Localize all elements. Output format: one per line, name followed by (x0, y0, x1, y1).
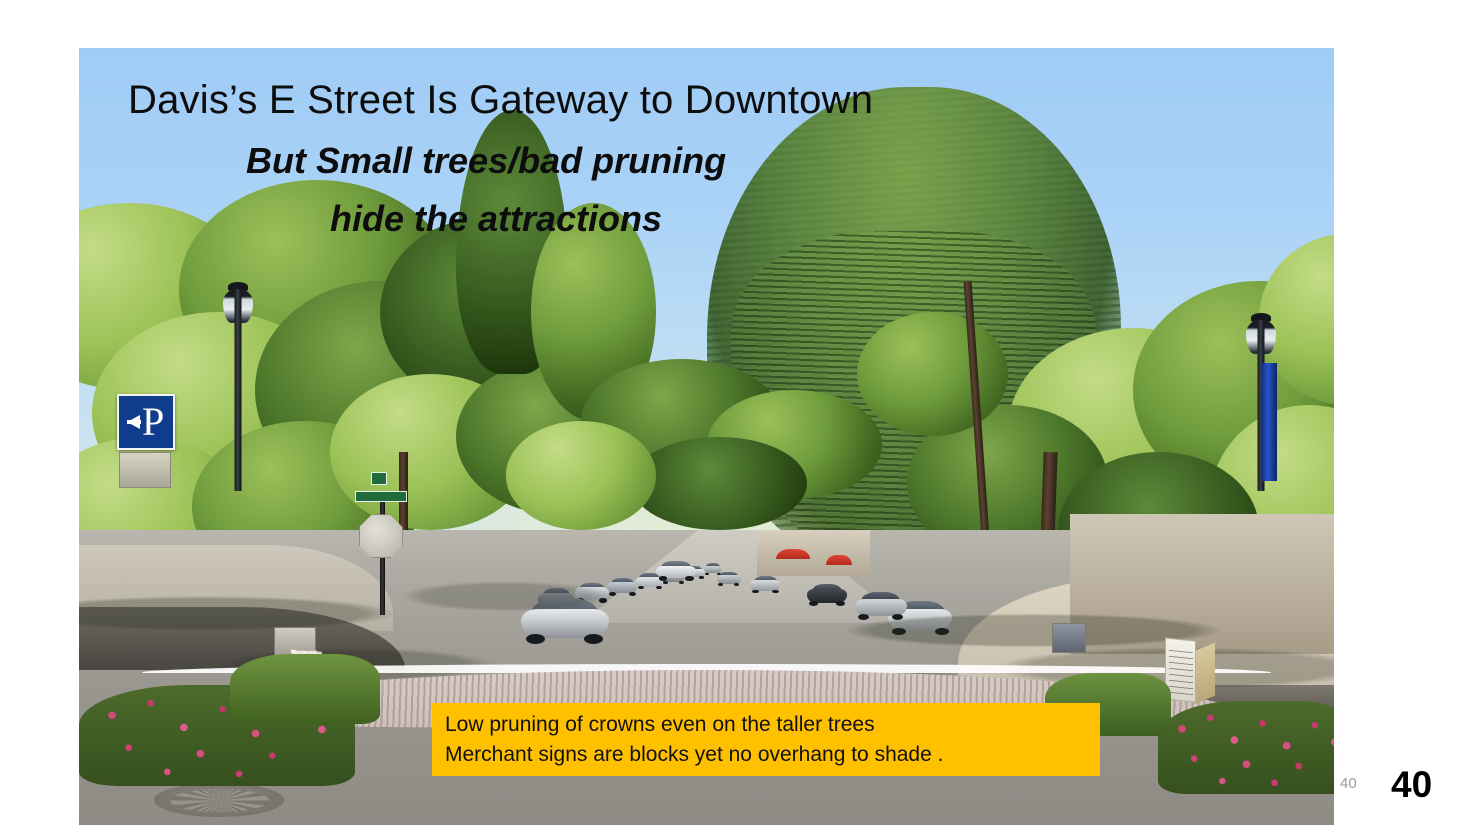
foreground-car (521, 598, 609, 644)
car-wheel (679, 581, 684, 584)
tree-canopy (857, 312, 1008, 436)
car-wheel (609, 592, 616, 596)
street-lamp-left (223, 289, 253, 491)
car-wheel (629, 592, 636, 596)
car-wheel (685, 576, 694, 580)
car-wheel (935, 628, 949, 635)
page-number-small: 40 (1340, 775, 1357, 792)
parking-sign: P (117, 394, 175, 450)
slide-title-line-2: But Small trees/bad pruning (246, 140, 726, 182)
parking-sign-letter: P (142, 405, 164, 439)
car-wheel (663, 581, 668, 584)
car-wheel (892, 628, 906, 635)
tree-canopy (631, 437, 807, 530)
car-wheel (892, 614, 903, 620)
slide-title-line-3: hide the attractions (330, 198, 662, 240)
slide-title-line-1: Davis’s E Street Is Gateway to Downtown (128, 78, 873, 123)
car-wheel (734, 583, 739, 586)
tree-canopy (506, 421, 657, 530)
flowers (1158, 701, 1334, 794)
sign-text-lines (1169, 650, 1193, 696)
car-wheel (656, 586, 662, 590)
lamp-post (235, 289, 242, 491)
car-wheel (809, 601, 818, 606)
slide-canvas: P (0, 0, 1467, 825)
light-pole-banner (1261, 363, 1277, 481)
parked-car (855, 592, 907, 620)
storefront-building (1070, 514, 1334, 654)
merchant-sandwich-board-right (1165, 639, 1215, 701)
caption-line-2: Merchant signs are blocks yet no overhan… (445, 740, 1100, 770)
left-arrow-icon (127, 415, 140, 429)
car-wheel (772, 590, 779, 594)
flower-planter-right (1158, 701, 1334, 794)
parking-info-panel (119, 452, 171, 488)
parked-car (807, 584, 847, 606)
street-name-sign (355, 491, 407, 502)
car-wheel (858, 614, 869, 620)
sign-leg (1194, 643, 1215, 705)
shrub-bed-left (230, 654, 381, 724)
car-wheel (638, 586, 644, 590)
awning (826, 555, 852, 565)
moving-car (656, 561, 696, 581)
caption-callout-box: Low pruning of crowns even on the taller… (432, 703, 1100, 776)
caption-line-1: Low pruning of crowns even on the taller… (445, 710, 1100, 740)
street-name-sign (371, 472, 387, 485)
trash-receptacle (1052, 623, 1086, 653)
planter-soil (230, 654, 381, 724)
car-wheel (699, 576, 704, 579)
car-wheel (526, 634, 545, 644)
parked-car (717, 572, 741, 586)
parked-car (750, 576, 780, 593)
storefront-building (757, 530, 870, 577)
car-wheel (836, 601, 845, 606)
car-wheel (718, 583, 723, 586)
parked-car (607, 578, 637, 596)
car-wheel (705, 573, 709, 576)
car-wheel (752, 590, 759, 594)
car-wheel (584, 634, 603, 644)
awning (776, 549, 810, 559)
car-wheel (659, 576, 668, 580)
page-number-large: 40 (1391, 764, 1432, 806)
